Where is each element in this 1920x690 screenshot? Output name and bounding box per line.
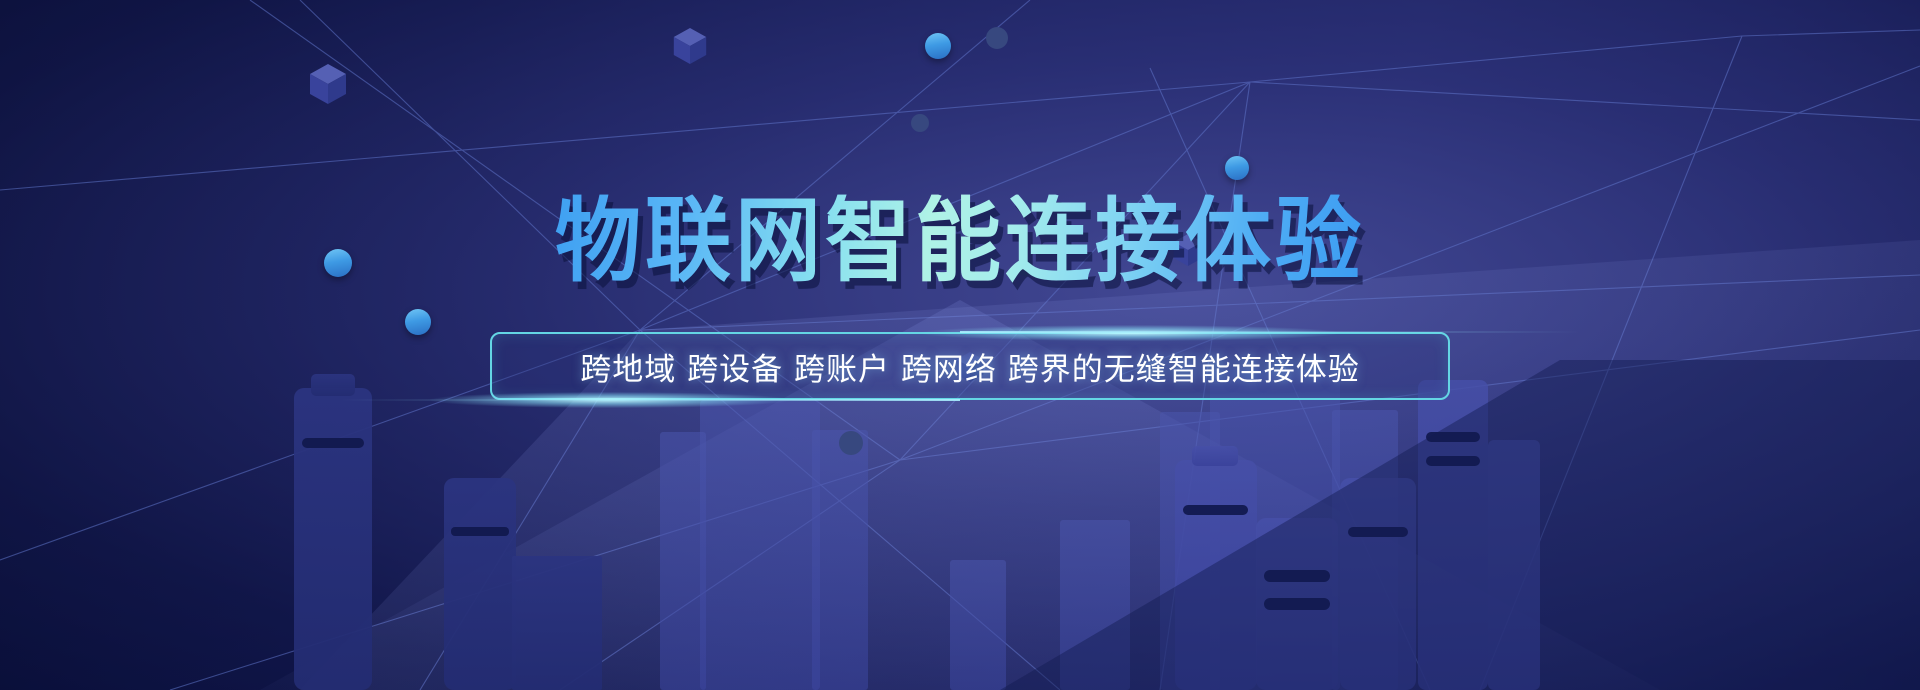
hero-title-wrapper: 物联网智能连接体验 [0, 198, 1920, 284]
node-bright-d [405, 309, 431, 335]
city-skyline-decoration [0, 360, 1920, 690]
hero-title: 物联网智能连接体验 [555, 195, 1365, 288]
node-dim-c [839, 431, 863, 455]
node-dim-a [986, 27, 1008, 49]
cube-upper-mid-icon [672, 26, 708, 66]
node-dim-b [911, 114, 929, 132]
hero-subtitle: 跨地域 跨设备 跨账户 跨网络 跨界的无缝智能连接体验 [580, 344, 1359, 389]
node-bright-b [1225, 156, 1249, 180]
iot-hero-banner: 物联网智能连接体验 跨地域 跨设备 跨账户 跨网络 跨界的无缝智能连接体验 [0, 0, 1920, 690]
hero-subtitle-box: 跨地域 跨设备 跨账户 跨网络 跨界的无缝智能连接体验 [490, 332, 1450, 400]
node-bright-a [925, 33, 951, 59]
cube-upper-left-icon [308, 62, 348, 106]
building-group-mid [294, 374, 602, 690]
